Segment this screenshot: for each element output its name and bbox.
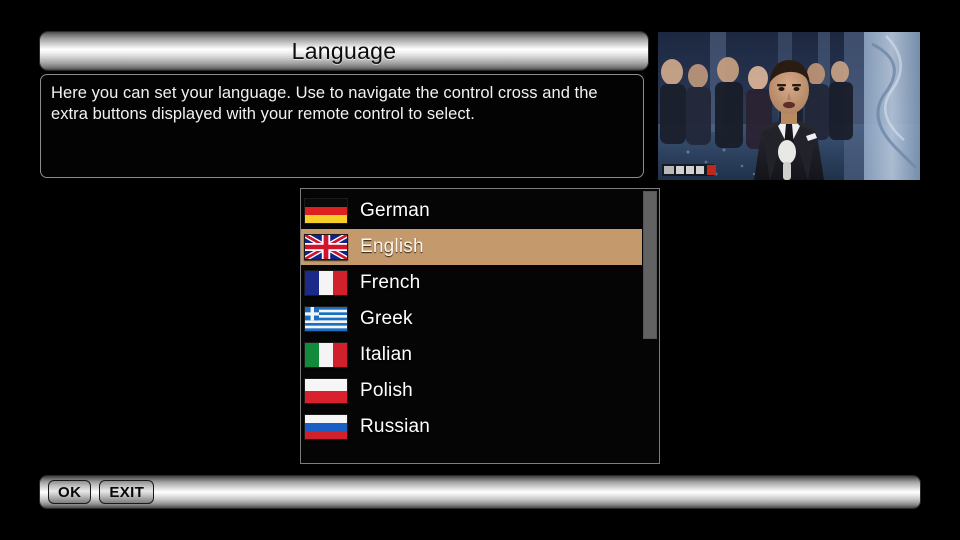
exit-button-label: EXIT <box>109 484 144 501</box>
page-title: Language <box>292 38 397 65</box>
list-item-greek[interactable]: Greek <box>301 301 641 337</box>
flag-united-kingdom-icon <box>304 234 348 260</box>
list-item-italian[interactable]: Italian <box>301 337 641 373</box>
list-item-english[interactable]: English <box>301 229 642 265</box>
list-item-label: Greek <box>360 308 413 330</box>
tv-video-frame <box>658 32 920 180</box>
flag-italy-icon <box>304 342 348 368</box>
flag-poland-icon <box>304 378 348 404</box>
list-item-label: French <box>360 272 420 294</box>
list-item-label: Polish <box>360 380 413 402</box>
ok-button-label: OK <box>58 484 81 501</box>
flag-russia-icon <box>304 414 348 440</box>
osd-screen: Language Here you can set your language.… <box>0 0 960 540</box>
list-item-german[interactable]: German <box>301 193 641 229</box>
exit-button[interactable]: EXIT <box>99 480 154 504</box>
channel-bug <box>662 164 716 176</box>
list-item-polish[interactable]: Polish <box>301 373 641 409</box>
bottom-action-bar: OK EXIT <box>40 476 920 508</box>
scrollbar-thumb[interactable] <box>643 191 657 339</box>
flag-france-icon <box>304 270 348 296</box>
list-item-label: English <box>360 236 424 258</box>
window-title-bar: Language <box>40 32 648 70</box>
list-item-label: Italian <box>360 344 412 366</box>
ok-button[interactable]: OK <box>48 480 91 504</box>
list-item-french[interactable]: French <box>301 265 641 301</box>
list-item-russian[interactable]: Russian <box>301 409 641 445</box>
help-info-text: Here you can set your language. Use to n… <box>51 83 633 125</box>
language-list: German English <box>301 189 641 445</box>
flag-greece-icon <box>304 306 348 332</box>
live-tv-preview[interactable] <box>658 32 920 180</box>
help-info-panel: Here you can set your language. Use to n… <box>40 74 644 178</box>
flag-germany-icon <box>304 198 348 224</box>
language-list-panel[interactable]: German English <box>300 188 660 464</box>
list-item-label: German <box>360 200 430 222</box>
list-item-label: Russian <box>360 416 430 438</box>
list-scrollbar[interactable] <box>643 191 657 461</box>
